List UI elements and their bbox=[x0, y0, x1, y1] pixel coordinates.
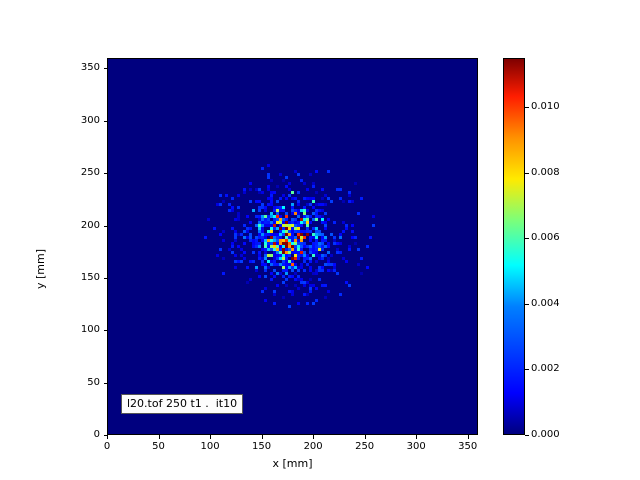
y-tick-mark bbox=[104, 226, 108, 227]
y-tick-mark bbox=[104, 383, 108, 384]
heatmap-axes bbox=[107, 58, 478, 435]
colorbar-tick-label: 0.002 bbox=[531, 364, 601, 374]
figure-canvas: l20.tof 250 t1 . it10 050100150200250300… bbox=[0, 0, 640, 480]
y-tick-label: 250 bbox=[4, 168, 100, 178]
colorbar-tick-label: 0.010 bbox=[531, 102, 601, 112]
y-tick-label-wrap: 250 bbox=[0, 168, 100, 178]
y-tick-label: 150 bbox=[4, 273, 100, 283]
y-tick-mark bbox=[104, 121, 108, 122]
colorbar-tick-label-wrap: 0.004 bbox=[531, 299, 601, 309]
x-tick-label: 350 bbox=[438, 441, 498, 453]
x-tick-mark bbox=[313, 435, 314, 439]
colorbar-tick-label-wrap: 0.010 bbox=[531, 102, 601, 112]
y-tick-mark bbox=[104, 68, 108, 69]
colorbar-tick-mark bbox=[525, 238, 529, 239]
colorbar-tick-label-wrap: 0.002 bbox=[531, 364, 601, 374]
colorbar-tick-mark bbox=[525, 304, 529, 305]
x-tick-label-wrap: 350 bbox=[438, 441, 498, 453]
y-tick-label: 300 bbox=[4, 116, 100, 126]
y-tick-mark bbox=[104, 330, 108, 331]
colorbar-tick-label-wrap: 0.006 bbox=[531, 233, 601, 243]
y-tick-mark bbox=[104, 173, 108, 174]
y-tick-label: 0 bbox=[4, 430, 100, 440]
y-axis-label: y [mm] bbox=[34, 249, 47, 289]
y-tick-label: 50 bbox=[4, 378, 100, 388]
x-tick-mark bbox=[416, 435, 417, 439]
plot-annotation-label: l20.tof 250 t1 . it10 bbox=[121, 394, 243, 414]
x-tick-mark bbox=[262, 435, 263, 439]
colorbar-tick-label: 0.000 bbox=[531, 430, 601, 440]
colorbar-tick-mark bbox=[525, 107, 529, 108]
y-tick-label-wrap: 0 bbox=[0, 430, 100, 440]
colorbar-tick-label-wrap: 0.000 bbox=[531, 430, 601, 440]
y-tick-label-wrap: 350 bbox=[0, 63, 100, 73]
y-tick-label-wrap: 50 bbox=[0, 378, 100, 388]
colorbar-tick-label: 0.006 bbox=[531, 233, 601, 243]
x-tick-mark bbox=[159, 435, 160, 439]
y-tick-label: 200 bbox=[4, 221, 100, 231]
x-axis-label: x [mm] bbox=[107, 457, 478, 470]
x-tick-mark bbox=[210, 435, 211, 439]
colorbar bbox=[503, 58, 525, 435]
y-tick-mark bbox=[104, 278, 108, 279]
y-tick-label-wrap: 150 bbox=[0, 273, 100, 283]
y-tick-label-wrap: 300 bbox=[0, 116, 100, 126]
colorbar-tick-label-wrap: 0.008 bbox=[531, 168, 601, 178]
y-tick-label-wrap: 200 bbox=[0, 221, 100, 231]
colorbar-tick-mark bbox=[525, 173, 529, 174]
heatmap-image bbox=[108, 59, 477, 434]
x-tick-mark bbox=[365, 435, 366, 439]
y-tick-label: 100 bbox=[4, 325, 100, 335]
colorbar-tick-label: 0.004 bbox=[531, 299, 601, 309]
x-tick-mark bbox=[107, 435, 108, 439]
y-tick-label-wrap: 100 bbox=[0, 325, 100, 335]
colorbar-tick-mark bbox=[525, 435, 529, 436]
x-tick-mark bbox=[468, 435, 469, 439]
colorbar-tick-mark bbox=[525, 369, 529, 370]
colorbar-tick-label: 0.008 bbox=[531, 168, 601, 178]
y-tick-label: 350 bbox=[4, 63, 100, 73]
